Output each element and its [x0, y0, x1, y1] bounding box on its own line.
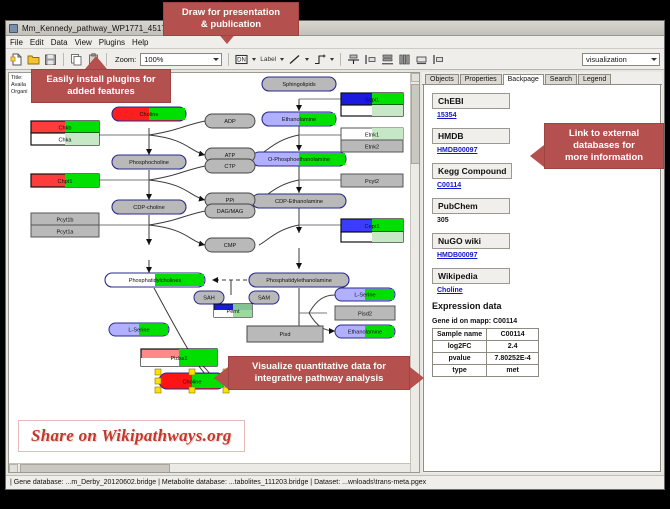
canvas-vscroll-thumb[interactable]	[411, 84, 420, 164]
row-label: log2FC	[433, 341, 487, 353]
table-row: type met	[433, 365, 539, 377]
zoom-value: 100%	[144, 55, 163, 64]
line-shape-dropdown-icon[interactable]	[330, 58, 334, 61]
callout-expression-arrow	[410, 367, 424, 389]
metabolite-node: Phosphatidylethanolamine	[249, 273, 349, 287]
align-tool[interactable]	[347, 53, 360, 66]
svg-text:Pcyt1a: Pcyt1a	[56, 230, 74, 236]
callout-plugins-arrow	[85, 56, 107, 69]
hmdb-header: HMDB	[432, 128, 510, 144]
visualization-combo[interactable]: visualization	[582, 53, 660, 66]
svg-text:ADP: ADP	[224, 119, 236, 125]
row-value: C00114	[487, 329, 539, 341]
metabolite-node: Phosphatidylcholines	[105, 273, 205, 287]
pubchem-value: 305	[437, 217, 652, 224]
zoom-label: Zoom:	[115, 55, 136, 64]
side-panel-tabs: Objects Properties Backpage Search Legen…	[422, 72, 662, 85]
callout-links-line1: Link to external databases for more info…	[565, 128, 643, 163]
gene-node: Ptdss1	[141, 349, 217, 366]
metabolite-node: L-Serine	[109, 323, 169, 336]
scroll-left-arrow[interactable]	[9, 464, 18, 473]
svg-text:Ptdss1: Ptdss1	[170, 356, 187, 362]
menu-item-file[interactable]: File	[10, 38, 23, 47]
gene-node: Pisd2	[335, 306, 395, 320]
chebi-header: ChEBI	[432, 93, 510, 109]
nugo-link[interactable]: HMDB00097	[437, 252, 652, 259]
tab-legend[interactable]: Legend	[578, 74, 611, 84]
menu-item-edit[interactable]: Edit	[30, 38, 44, 47]
svg-text:Chka: Chka	[58, 138, 72, 144]
svg-text:CMP: CMP	[224, 243, 237, 249]
pathway-canvas[interactable]: Title: Availa Organi	[8, 72, 420, 473]
svg-text:CTP: CTP	[224, 164, 235, 170]
save-file-button[interactable]	[44, 53, 57, 66]
distribute-tool[interactable]	[381, 53, 394, 66]
scroll-up-arrow[interactable]	[411, 73, 420, 82]
wikipedia-link[interactable]: Choline	[437, 287, 652, 294]
svg-text:Etnk1: Etnk1	[365, 133, 379, 139]
expression-data-heading: Expression data	[432, 301, 652, 311]
gene-node: Pcyt1b	[31, 213, 99, 225]
svg-text:SAM: SAM	[258, 296, 270, 302]
svg-text:L-Serine: L-Serine	[354, 293, 375, 299]
chebi-link[interactable]: 15354	[437, 112, 652, 119]
pathway-diagram: Sphingolipids Choline Ethanolamine Phosp…	[9, 73, 420, 473]
svg-text:Pcyt1b: Pcyt1b	[56, 218, 73, 224]
row-label: type	[433, 365, 487, 377]
svg-text:Ethanolamine: Ethanolamine	[282, 117, 316, 123]
callout-plugins-line1: Easily install plugins for added feature…	[46, 74, 155, 97]
svg-text:Cept1: Cept1	[365, 224, 380, 230]
svg-text:Pisd2: Pisd2	[358, 312, 372, 318]
metabolite-node: Ethanolamine	[335, 325, 395, 338]
gene-node: Chka	[31, 133, 99, 145]
canvas-vertical-scrollbar[interactable]	[410, 73, 419, 472]
status-text: | Gene database: ...m_Derby_20120602.bri…	[10, 479, 426, 486]
row-label: pvalue	[433, 353, 487, 365]
copy-button[interactable]	[70, 53, 83, 66]
row-label: Sample name	[433, 329, 487, 341]
svg-text:Sphingolipids: Sphingolipids	[282, 82, 315, 88]
svg-text:Chkb: Chkb	[58, 126, 71, 132]
pathvisio-icon	[9, 24, 18, 33]
metabolite-node: Choline	[112, 107, 186, 121]
toolbar-separator-1	[63, 53, 64, 66]
svg-text:Phosphatidylethanolamine: Phosphatidylethanolamine	[266, 278, 332, 284]
metabolite-node: O-Phosphoethanolamine	[252, 152, 346, 166]
callout-links: Link to external databases for more info…	[544, 123, 664, 169]
svg-text:Phosphocholine: Phosphocholine	[129, 160, 169, 166]
metabolite-node: Sphingolipids	[262, 77, 336, 91]
svg-text:DN: DN	[237, 57, 246, 63]
metabolite-node: CMP	[205, 238, 255, 252]
metabolite-node: DAG/MAG	[205, 204, 255, 218]
canvas-horizontal-scrollbar[interactable]	[9, 463, 410, 472]
gene-node: Sgpl1	[341, 93, 403, 105]
pubchem-header: PubChem	[432, 198, 510, 214]
svg-text:SAH: SAH	[203, 296, 215, 302]
metabolite-node: Phosphocholine	[112, 155, 186, 169]
tab-backpage[interactable]: Backpage	[503, 74, 544, 85]
svg-text:L-Serine: L-Serine	[128, 328, 149, 334]
gene-id-label: Gene id on mapp: C00114	[432, 318, 652, 325]
tab-objects[interactable]: Objects	[425, 74, 459, 84]
menu-item-help[interactable]: Help	[132, 38, 148, 47]
svg-text:ATP: ATP	[225, 153, 236, 159]
svg-text:PPi: PPi	[226, 198, 235, 204]
chevron-down-icon	[213, 58, 219, 61]
canvas-hscroll-thumb[interactable]	[20, 464, 170, 473]
svg-text:Pemt: Pemt	[226, 309, 240, 315]
row-value: 2.4	[487, 341, 539, 353]
gene-node: Cept1	[341, 219, 403, 232]
tab-properties[interactable]: Properties	[460, 74, 502, 84]
metabolite-node: SAM	[249, 291, 279, 304]
nugo-header: NuGO wiki	[432, 233, 510, 249]
chevron-down-icon	[651, 58, 657, 61]
toolbar-separator-3	[228, 53, 229, 66]
menu-item-data[interactable]: Data	[51, 38, 68, 47]
share-banner-text: Share on Wikipathways.org	[31, 426, 232, 445]
menu-bar: File Edit Data View Plugins Help	[6, 36, 664, 49]
callout-links-arrow	[530, 145, 544, 167]
table-row: log2FC 2.4	[433, 341, 539, 353]
share-banner: Share on Wikipathways.org	[18, 420, 245, 452]
line-dropdown-icon[interactable]	[305, 58, 309, 61]
expression-table: Sample name C00114 log2FC 2.4 pvalue 7.8…	[432, 328, 539, 377]
gene-node: Pcyt2	[341, 174, 403, 187]
svg-text:DAG/MAG: DAG/MAG	[217, 209, 243, 215]
menu-item-view[interactable]: View	[75, 38, 92, 47]
line-tool[interactable]	[288, 53, 301, 66]
toolbar-separator-4	[340, 53, 341, 66]
callout-draw-line1: Draw for presentation & publication	[182, 7, 280, 30]
gene-node: Etnk2	[341, 140, 403, 152]
metabolite-node: CDP-Ethanolamine	[252, 194, 346, 208]
datanode-tool[interactable]: DN	[235, 53, 248, 66]
svg-text:O-Phosphoethanolamine: O-Phosphoethanolamine	[268, 157, 330, 163]
visualization-value: visualization	[586, 55, 627, 64]
svg-text:Etnk2: Etnk2	[365, 145, 379, 151]
svg-text:Choline: Choline	[140, 112, 159, 118]
svg-text:Pisd: Pisd	[280, 332, 291, 338]
gene-node: Pcyt1a	[31, 225, 99, 237]
svg-text:Sgpl1: Sgpl1	[365, 98, 379, 104]
menu-item-plugins[interactable]: Plugins	[99, 38, 125, 47]
gene-node: Chpt1	[31, 174, 99, 187]
row-value: met	[487, 365, 539, 377]
callout-draw: Draw for presentation & publication	[163, 2, 299, 36]
group-tool[interactable]	[415, 53, 428, 66]
kegg-link[interactable]: C00114	[437, 182, 652, 189]
svg-text:Phosphatidylcholines: Phosphatidylcholines	[129, 278, 182, 284]
table-row: Sample name C00114	[433, 329, 539, 341]
svg-text:Ethanolamine: Ethanolamine	[348, 330, 382, 336]
zoom-combo[interactable]: 100%	[140, 53, 222, 66]
tab-search[interactable]: Search	[545, 74, 577, 84]
gene-node: Pisd	[247, 326, 323, 342]
wikipedia-header: Wikipedia	[432, 268, 510, 284]
gene-node: Etnk1	[341, 128, 403, 140]
line-shape-tool[interactable]	[313, 53, 326, 66]
label-tool[interactable]: Label	[260, 56, 276, 63]
gene-node	[341, 105, 403, 116]
metabolite-node: SAH	[194, 291, 224, 304]
status-bar: | Gene database: ...m_Derby_20120602.bri…	[6, 475, 664, 489]
new-file-button[interactable]	[10, 53, 23, 66]
kegg-header: Kegg Compound	[432, 163, 512, 179]
label-dropdown-icon[interactable]	[280, 58, 284, 61]
row-value: 7.80252E-4	[487, 353, 539, 365]
svg-text:Chpt1: Chpt1	[58, 179, 73, 185]
anchor-tool[interactable]	[364, 53, 377, 66]
metabolite-node: Ethanolamine	[262, 112, 336, 126]
metabolite-node: CTP	[205, 159, 255, 173]
svg-text:CDP-Ethanolamine: CDP-Ethanolamine	[275, 199, 323, 205]
callout-visualize-arrow	[214, 367, 228, 389]
title-bar: Mm_Kennedy_pathway_WP1771_45176.gpml	[6, 21, 664, 36]
gene-node: Pemt	[214, 304, 252, 317]
stack-tool[interactable]	[398, 53, 411, 66]
svg-text:Pcyt2: Pcyt2	[365, 179, 379, 185]
callout-visualize-line1: Visualize quantitative data for integrat…	[252, 361, 386, 384]
callout-plugins: Easily install plugins for added feature…	[31, 69, 171, 103]
svg-text:CDP-choline: CDP-choline	[133, 205, 164, 211]
gene-node	[341, 232, 403, 242]
metabolite-node: ADP	[205, 114, 255, 128]
datanode-dropdown-icon[interactable]	[252, 58, 256, 61]
metabolite-node: L-Serine	[335, 288, 395, 301]
open-file-button[interactable]	[27, 53, 40, 66]
gene-node: Chkb	[31, 121, 99, 133]
metabolite-node: CDP-choline	[112, 200, 186, 214]
order-tool[interactable]	[432, 53, 445, 66]
callout-visualize: Visualize quantitative data for integrat…	[228, 356, 410, 390]
svg-text:Choline: Choline	[183, 380, 202, 386]
table-row: pvalue 7.80252E-4	[433, 353, 539, 365]
